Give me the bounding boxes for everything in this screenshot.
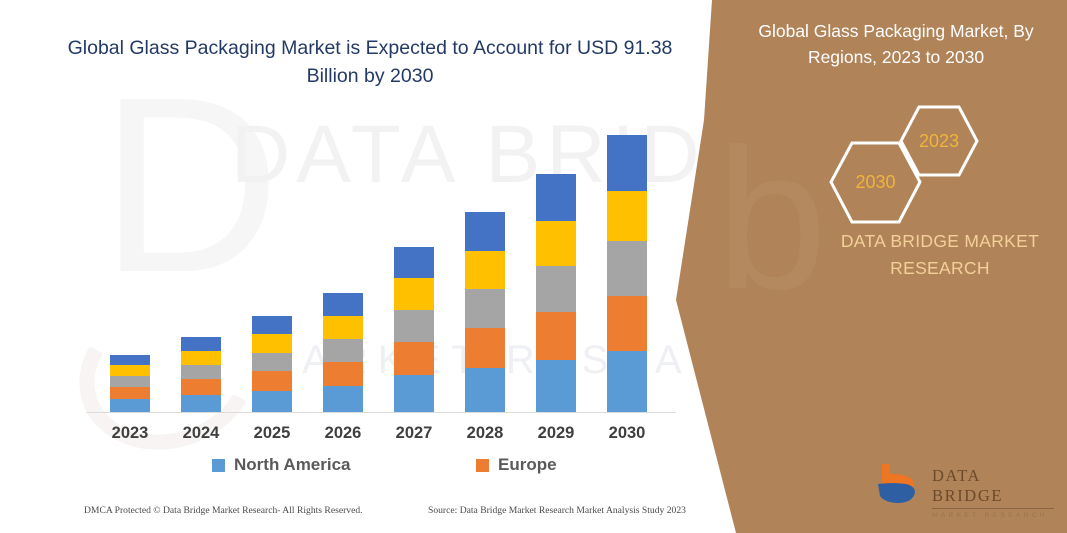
data-bridge-logo-mark <box>876 462 924 506</box>
panel-title: Global Glass Packaging Market, By Region… <box>736 18 1056 70</box>
bar-segment-north-america <box>252 391 292 412</box>
x-axis-label-2026: 2026 <box>313 424 373 443</box>
bar-segment-series-3 <box>323 339 363 362</box>
x-axis-label-2024: 2024 <box>171 424 231 443</box>
bar-column-2023 <box>110 355 150 412</box>
bar-segment-series-5 <box>181 337 221 351</box>
bar-column-2026 <box>323 293 363 412</box>
bar-segment-europe <box>607 296 647 351</box>
panel-brand-line2: RESEARCH <box>790 255 1067 282</box>
hexagon-end-year-label: 2030 <box>855 172 895 193</box>
x-axis-label-2029: 2029 <box>526 424 586 443</box>
bar-segment-series-4 <box>607 191 647 241</box>
bar-segment-series-4 <box>536 221 576 266</box>
x-axis-label-2023: 2023 <box>100 424 160 443</box>
logo-name: DATA BRIDGE <box>932 466 1056 506</box>
bar-column-2029 <box>536 174 576 412</box>
bar-segment-north-america <box>181 395 221 412</box>
bar-segment-europe <box>536 312 576 360</box>
footer: DMCA Protected © Data Bridge Market Rese… <box>84 505 684 523</box>
bar-segment-north-america <box>323 386 363 412</box>
bar-segment-series-3 <box>110 376 150 387</box>
bar-segment-series-5 <box>323 293 363 316</box>
legend-item-europe[interactable]: Europe <box>476 455 557 475</box>
bar-segment-series-3 <box>465 289 505 328</box>
bar-segment-series-5 <box>110 355 150 365</box>
x-axis-label-2027: 2027 <box>384 424 444 443</box>
bar-segment-series-3 <box>181 365 221 379</box>
bar-segment-north-america <box>465 368 505 412</box>
legend-item-north-america[interactable]: North America <box>212 455 351 475</box>
bar-segment-series-4 <box>110 365 150 376</box>
x-axis-line <box>86 412 676 413</box>
bar-segment-series-4 <box>465 251 505 289</box>
data-bridge-logo: DATA BRIDGE MARKET RESEARCH <box>876 462 1056 508</box>
hexagon-badge-start-year: 2023 <box>898 104 980 178</box>
bar-segment-north-america <box>394 375 434 412</box>
bar-segment-europe <box>181 379 221 395</box>
bar-segment-north-america <box>607 351 647 412</box>
bar-column-2024 <box>181 337 221 412</box>
panel-brand-line1: DATA BRIDGE MARKET <box>790 228 1067 255</box>
bar-segment-series-4 <box>394 278 434 310</box>
bar-column-2027 <box>394 247 434 412</box>
bar-segment-europe <box>465 328 505 368</box>
bar-segment-series-4 <box>181 351 221 365</box>
footer-copyright: DMCA Protected © Data Bridge Market Rese… <box>84 505 363 516</box>
x-axis-label-2025: 2025 <box>242 424 302 443</box>
bar-segment-series-3 <box>607 241 647 296</box>
logo-tagline: MARKET RESEARCH <box>932 512 1056 519</box>
x-axis-label-2030: 2030 <box>597 424 657 443</box>
bar-segment-europe <box>252 371 292 391</box>
chart-plot-area <box>86 110 686 413</box>
bar-segment-series-5 <box>607 135 647 191</box>
bar-segment-series-3 <box>394 310 434 342</box>
logo-divider <box>932 508 1054 509</box>
bar-segment-north-america <box>536 360 576 412</box>
footer-source: Source: Data Bridge Market Research Mark… <box>428 505 686 516</box>
bar-segment-series-5 <box>465 212 505 251</box>
bar-column-2030 <box>607 135 647 412</box>
x-axis-label-2028: 2028 <box>455 424 515 443</box>
bar-segment-north-america <box>110 399 150 412</box>
legend-label: North America <box>234 455 351 475</box>
data-bridge-logo-text: DATA BRIDGE MARKET RESEARCH <box>932 466 1056 519</box>
legend-label: Europe <box>498 455 557 475</box>
bar-segment-europe <box>110 387 150 399</box>
hexagon-start-year-label: 2023 <box>919 131 959 152</box>
bar-segment-series-5 <box>394 247 434 278</box>
x-axis-labels: 20232024202520262027202820292030 <box>86 424 686 450</box>
legend-swatch-icon <box>476 459 489 472</box>
bar-segment-series-3 <box>536 266 576 312</box>
legend-swatch-icon <box>212 459 225 472</box>
bar-segment-series-5 <box>252 316 292 334</box>
bar-segment-series-5 <box>536 174 576 221</box>
bar-column-2028 <box>465 212 505 412</box>
chart-legend: North AmericaEurope <box>86 455 686 481</box>
bar-segment-europe <box>394 342 434 375</box>
infographic-root: D DATA BRIDGE MARKET RESEARCH Global Gla… <box>0 0 1067 533</box>
bar-segment-series-4 <box>323 316 363 339</box>
panel-watermark-b: b <box>716 120 827 320</box>
bar-segment-series-3 <box>252 353 292 371</box>
chart-title: Global Glass Packaging Market is Expecte… <box>60 34 680 90</box>
bar-segment-europe <box>323 362 363 386</box>
panel-brand-name: DATA BRIDGE MARKET RESEARCH <box>790 228 1067 282</box>
bar-column-2025 <box>252 316 292 412</box>
bar-segment-series-4 <box>252 334 292 353</box>
